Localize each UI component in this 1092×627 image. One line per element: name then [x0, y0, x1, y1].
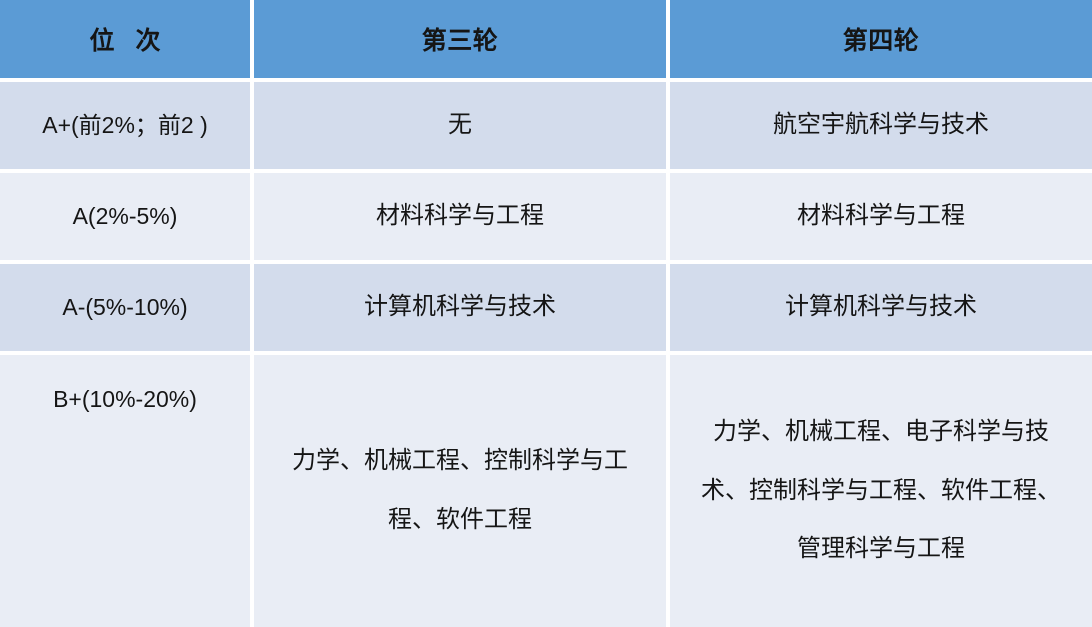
cell-round-three-text: 力学、机械工程、控制科学与工程、软件工程 — [275, 432, 645, 550]
cell-round-four: 航空宇航科学与技术 — [668, 80, 1092, 171]
discipline-ranking-table: 位 次 第三轮 第四轮 A+(前2%；前2 ) 无 航空宇航科学与技术 A(2%… — [0, 0, 1092, 627]
cell-round-three: 力学、机械工程、控制科学与工程、软件工程 — [252, 353, 668, 627]
table-row: A-(5%-10%) 计算机科学与技术 计算机科学与技术 — [0, 262, 1092, 353]
cell-round-four: 力学、机械工程、电子科学与技术、控制科学与工程、软件工程、管理科学与工程 — [668, 353, 1092, 627]
column-header-rank: 位 次 — [0, 0, 252, 80]
cell-round-three: 计算机科学与技术 — [252, 262, 668, 353]
column-header-round-four: 第四轮 — [668, 0, 1092, 80]
cell-rank: A-(5%-10%) — [0, 262, 252, 353]
cell-round-four: 计算机科学与技术 — [668, 262, 1092, 353]
header-row: 位 次 第三轮 第四轮 — [0, 0, 1092, 80]
table-row: B+(10%-20%) 力学、机械工程、控制科学与工程、软件工程 力学、机械工程… — [0, 353, 1092, 627]
cell-round-four-text: 力学、机械工程、电子科学与技术、控制科学与工程、软件工程、管理科学与工程 — [696, 403, 1066, 579]
table-header: 位 次 第三轮 第四轮 — [0, 0, 1092, 80]
table-body: A+(前2%；前2 ) 无 航空宇航科学与技术 A(2%-5%) 材料科学与工程… — [0, 80, 1092, 627]
cell-rank: B+(10%-20%) — [0, 353, 252, 627]
column-header-round-three: 第三轮 — [252, 0, 668, 80]
cell-round-three: 材料科学与工程 — [252, 171, 668, 262]
table-row: A+(前2%；前2 ) 无 航空宇航科学与技术 — [0, 80, 1092, 171]
cell-round-four: 材料科学与工程 — [668, 171, 1092, 262]
cell-rank: A(2%-5%) — [0, 171, 252, 262]
cell-round-three: 无 — [252, 80, 668, 171]
cell-rank: A+(前2%；前2 ) — [0, 80, 252, 171]
table-row: A(2%-5%) 材料科学与工程 材料科学与工程 — [0, 171, 1092, 262]
